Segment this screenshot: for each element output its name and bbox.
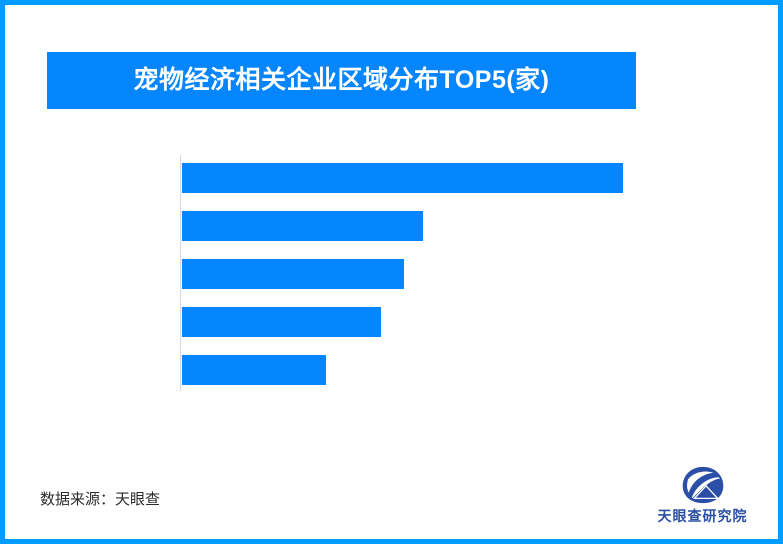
bar-chart: 海南省广东省浙江省湖北省河南省 (0, 0, 783, 544)
brand-logo-text: 天眼查研究院 (658, 506, 748, 526)
bar-rect (182, 211, 423, 241)
brand-logo: 天眼查研究院 (650, 466, 755, 528)
bar-rect (182, 355, 326, 385)
bar-rect (182, 163, 623, 193)
data-source-note: 数据来源：天眼查 (40, 488, 160, 509)
bar-rect (182, 259, 404, 289)
chart-canvas: 宠物经济相关企业区域分布TOP5(家) 海南省广东省浙江省湖北省河南省 数据来源… (0, 0, 783, 544)
tianyancha-eye-logo-icon (681, 466, 725, 504)
bar-rect (182, 307, 381, 337)
category-axis-line (180, 155, 181, 391)
